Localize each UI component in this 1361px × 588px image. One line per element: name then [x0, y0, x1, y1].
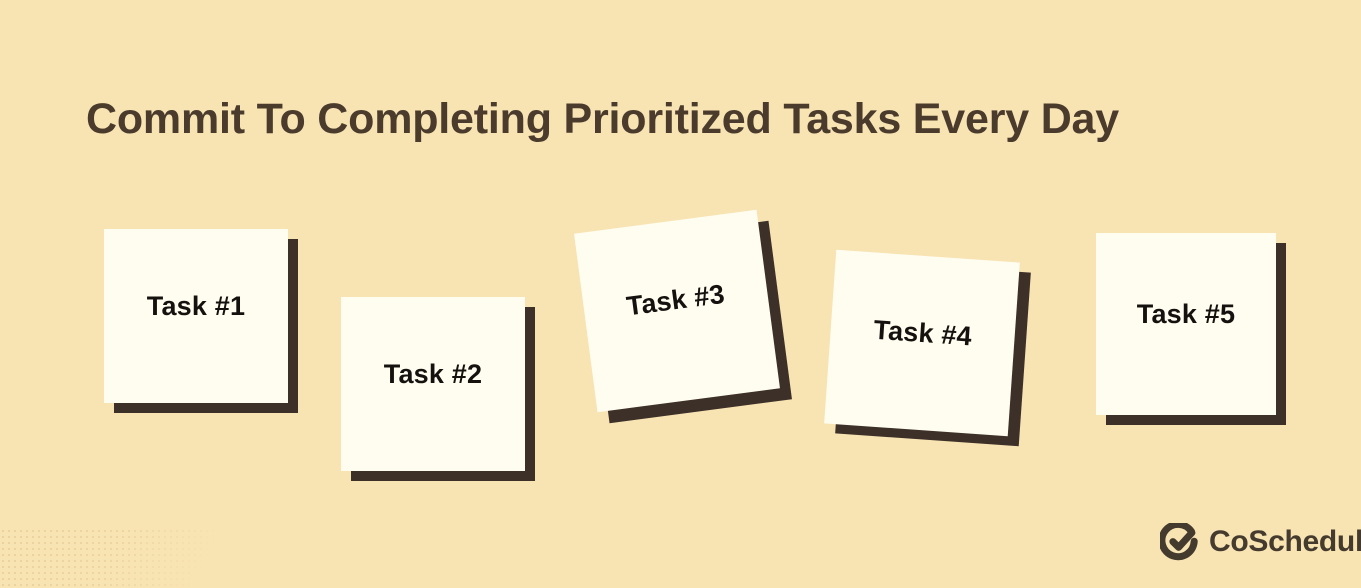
sticky-note-label: Task #2 — [341, 359, 525, 390]
sticky-note-label: Task #1 — [104, 291, 288, 322]
sticky-note-task-5[interactable]: Task #5 — [1096, 233, 1276, 415]
sticky-note-label: Task #3 — [582, 273, 768, 328]
brand-name: CoSchedule — [1209, 523, 1361, 561]
sticky-note-task-1[interactable]: Task #1 — [104, 229, 288, 403]
brand-logo: CoSchedule — [1160, 523, 1361, 561]
sticky-note-task-4[interactable]: Task #4 — [824, 250, 1020, 436]
page-title: Commit To Completing Prioritized Tasks E… — [86, 90, 1316, 148]
sticky-note-task-2[interactable]: Task #2 — [341, 297, 525, 471]
sticky-note-label: Task #5 — [1096, 299, 1276, 330]
sticky-note-task-3[interactable]: Task #3 — [574, 210, 780, 412]
corner-dot-texture — [0, 528, 300, 588]
sticky-note-label: Task #4 — [830, 312, 1016, 356]
check-circle-icon — [1160, 523, 1198, 561]
slide-canvas: Commit To Completing Prioritized Tasks E… — [0, 0, 1361, 588]
